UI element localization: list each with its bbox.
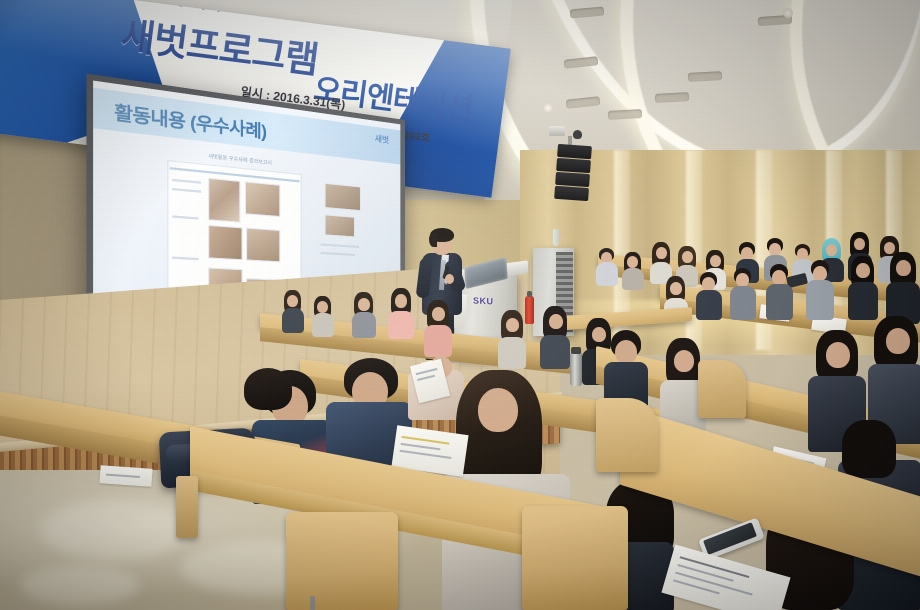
slide-photo <box>208 225 243 261</box>
chair <box>596 398 658 472</box>
audience-person <box>622 252 644 286</box>
audience-person <box>282 290 304 332</box>
name-card <box>99 465 152 487</box>
ceiling-vent <box>655 92 689 103</box>
slide-photo <box>325 183 361 211</box>
ceiling-vent <box>688 71 722 82</box>
slide-title: 활동내용 (우수사례) <box>114 97 266 144</box>
bottle-cap <box>571 347 581 354</box>
slide-photo <box>208 178 240 223</box>
audience-person <box>806 260 834 320</box>
ceiling-vent <box>608 109 642 120</box>
presenter-hand <box>445 274 454 284</box>
line-array-speakers <box>554 144 592 202</box>
fire-extinguisher-valve <box>527 291 532 297</box>
chair <box>698 360 746 418</box>
ceiling-projector <box>549 126 565 136</box>
fire-extinguisher <box>525 296 534 324</box>
ceiling-downlight <box>543 103 553 113</box>
audience-person <box>498 310 526 368</box>
audience-person <box>848 256 878 320</box>
ceiling-downlight <box>783 8 793 18</box>
audience-person <box>696 272 722 320</box>
lecture-hall-photo: 제1학기 새벗프로그램 오리엔테이션 일시 : 2016.3.31(목) 장소 … <box>0 0 920 610</box>
slide-logo: 새벗 <box>375 133 389 146</box>
audience-person <box>766 264 793 320</box>
audience-person <box>540 306 570 368</box>
presenter-hair-side <box>429 233 437 247</box>
audience-person <box>388 288 414 338</box>
audience-person <box>596 248 618 284</box>
audience-person <box>352 292 376 336</box>
audience-person <box>424 300 452 356</box>
slide-photo <box>246 228 280 263</box>
audience-person <box>730 268 756 320</box>
chair <box>176 476 198 538</box>
chair <box>522 506 628 610</box>
slide-photo <box>325 214 355 237</box>
slide-photo <box>245 181 280 217</box>
security-camera-icon <box>573 130 582 139</box>
water-bottle <box>553 229 559 246</box>
podium-logo: SKU <box>473 295 494 306</box>
audience-person <box>886 252 920 322</box>
chair <box>286 512 398 610</box>
audience-person <box>312 296 334 336</box>
